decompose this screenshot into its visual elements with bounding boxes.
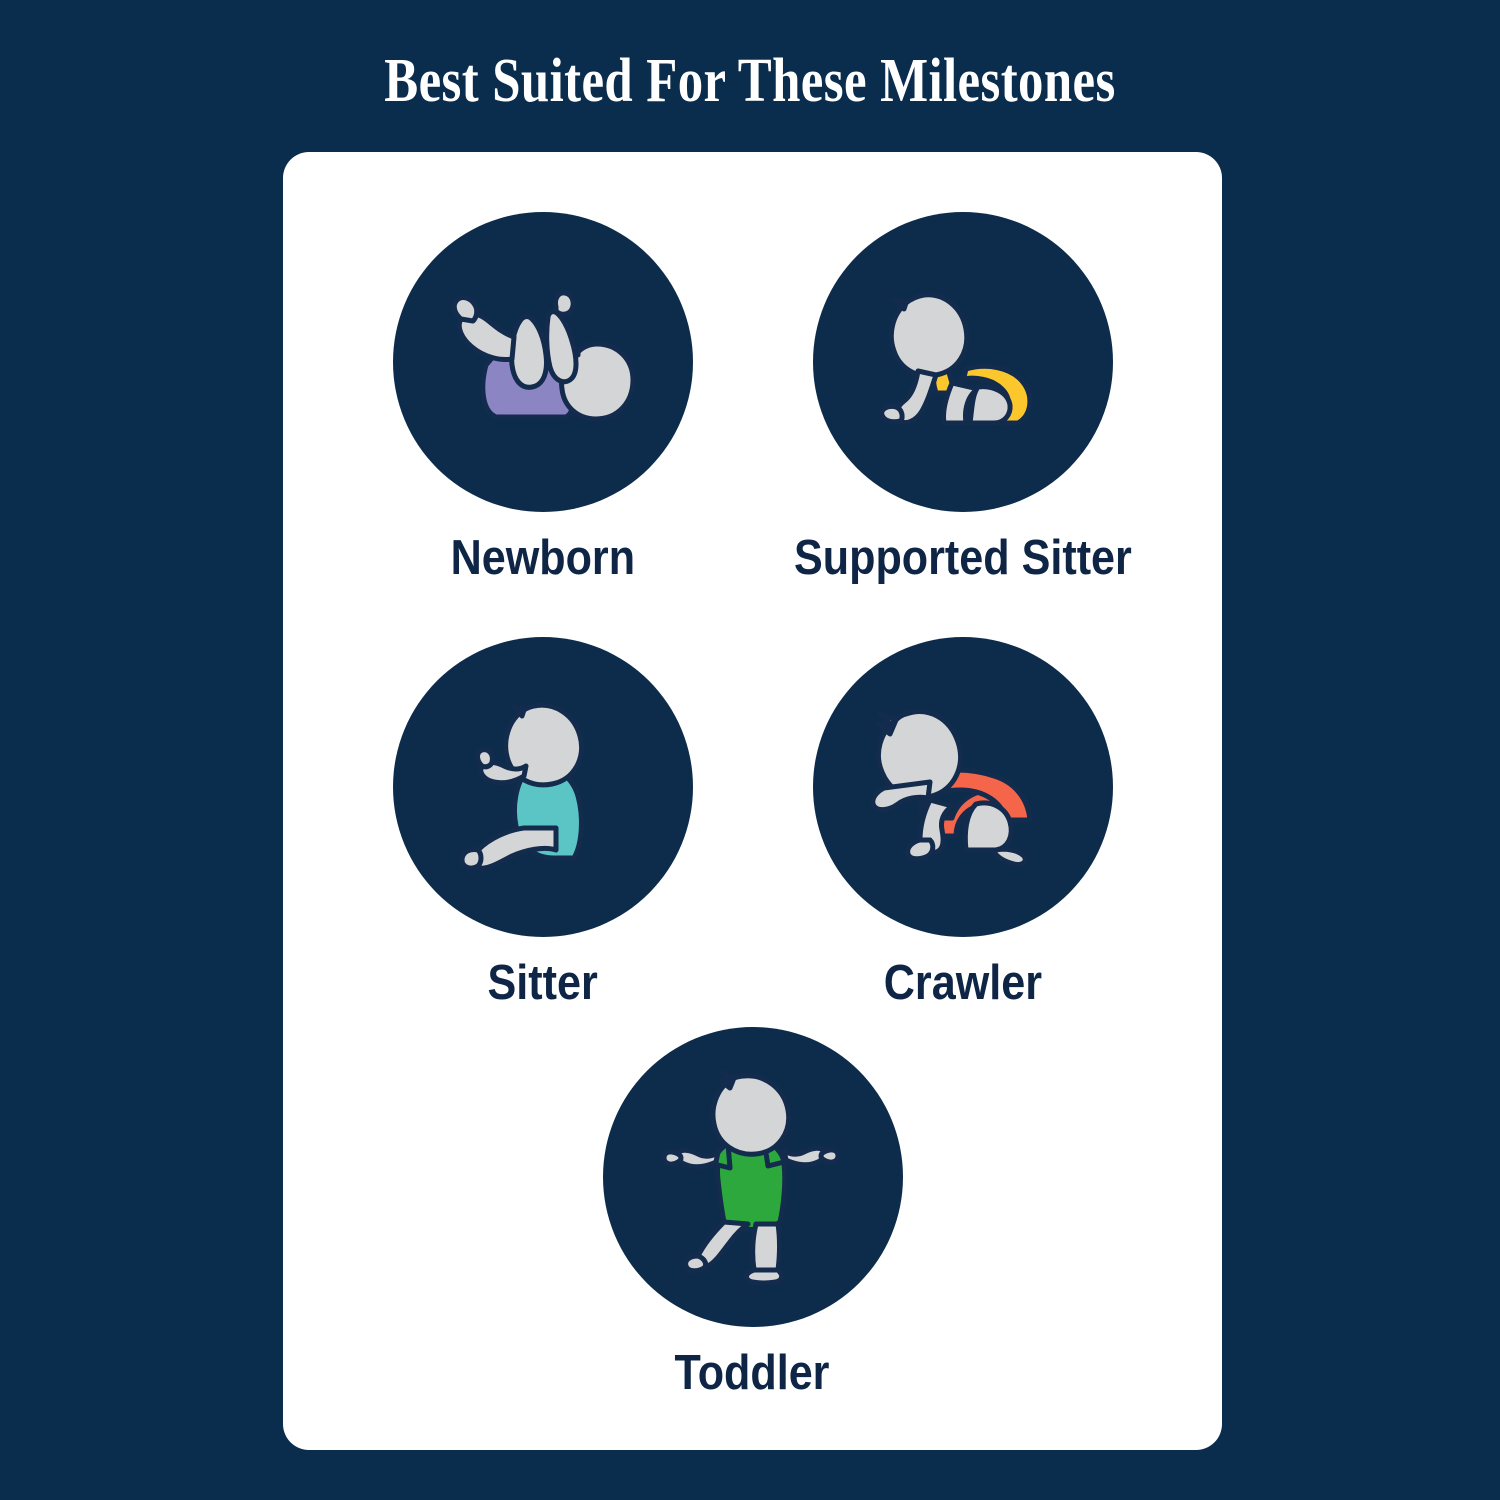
milestone-label: Newborn xyxy=(450,534,634,583)
milestone-label: Supported Sitter xyxy=(794,534,1132,583)
crawler-hand xyxy=(907,840,932,859)
crawler-back-leg xyxy=(965,803,1011,850)
toddler-hand-left xyxy=(664,1152,681,1164)
newborn-leg-upper xyxy=(511,317,546,388)
toddler-hand-right xyxy=(821,1150,838,1162)
milestone-row-3: Toddler xyxy=(283,1027,1222,1398)
milestone-row-2: Sitter xyxy=(283,637,1222,1008)
milestone-row-1: Newborn xyxy=(283,212,1222,583)
supported-sitter-hand xyxy=(881,406,901,423)
newborn-foot-right xyxy=(555,293,573,314)
toddler-standing-icon xyxy=(638,1062,868,1292)
baby-sitting-icon xyxy=(428,672,658,902)
crawler-foot xyxy=(994,849,1025,864)
milestone-toddler[interactable]: Toddler xyxy=(543,1027,963,1398)
supported-sitter-icon-circle xyxy=(813,212,1113,512)
page-title: Best Suited For These Milestones xyxy=(135,46,1365,117)
milestone-supported-sitter[interactable]: Supported Sitter xyxy=(753,212,1173,583)
baby-lying-on-back-icon xyxy=(428,247,658,477)
toddler-icon-circle xyxy=(603,1027,903,1327)
newborn-foot-left xyxy=(454,298,477,321)
newborn-icon-circle xyxy=(393,212,693,512)
baby-crawling-icon xyxy=(848,672,1078,902)
milestone-label: Crawler xyxy=(883,959,1041,1008)
toddler-arm-left xyxy=(677,1150,717,1167)
milestone-card: Newborn xyxy=(283,152,1222,1450)
milestone-newborn[interactable]: Newborn xyxy=(333,212,753,583)
milestone-sitter[interactable]: Sitter xyxy=(333,637,753,1008)
baby-on-hands-and-knees-icon xyxy=(848,247,1078,477)
milestone-label: Toddler xyxy=(675,1349,830,1398)
sitter-leg xyxy=(472,828,556,868)
toddler-leg-standing xyxy=(752,1224,779,1270)
milestone-label: Sitter xyxy=(487,959,597,1008)
toddler-foot-standing xyxy=(746,1270,781,1283)
toddler-arm-right xyxy=(784,1148,824,1165)
sitter-foot xyxy=(462,849,481,868)
newborn-leg2 xyxy=(546,312,575,382)
milestone-crawler[interactable]: Crawler xyxy=(753,637,1173,1008)
toddler-head xyxy=(712,1072,788,1154)
crawler-icon-circle xyxy=(813,637,1113,937)
toddler-foot-raised xyxy=(685,1256,705,1271)
sitter-icon-circle xyxy=(393,637,693,937)
supported-sitter-head xyxy=(891,295,966,376)
supported-sitter-leg-back xyxy=(970,387,1010,423)
sitter-hand xyxy=(477,750,492,767)
